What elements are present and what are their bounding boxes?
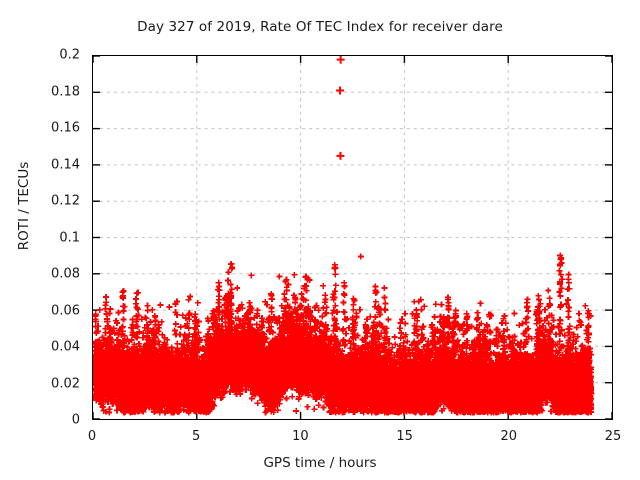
x-axis-title: GPS time / hours <box>0 455 640 471</box>
y-axis-title: ROTI / TECUs <box>16 116 32 296</box>
x-tick-label: 10 <box>275 429 325 444</box>
x-tick-label: 0 <box>67 429 117 444</box>
x-tick-label: 25 <box>588 429 638 444</box>
y-tick-label: 0.04 <box>14 340 80 355</box>
outlier-points <box>336 56 345 160</box>
y-tick-label: 0.2 <box>14 48 80 63</box>
x-tick-label: 15 <box>380 429 430 444</box>
plot-area <box>92 55 613 420</box>
chart-container: Day 327 of 2019, Rate Of TEC Index for r… <box>0 0 640 480</box>
chart-title: Day 327 of 2019, Rate Of TEC Index for r… <box>0 19 640 35</box>
scatter-points <box>93 252 594 415</box>
y-tick-label: 0.02 <box>14 376 80 391</box>
y-tick-label: 0 <box>14 413 80 428</box>
data-points-layer <box>93 56 612 419</box>
y-tick-label: 0.06 <box>14 303 80 318</box>
y-tick-label: 0.18 <box>14 84 80 99</box>
x-tick-label: 5 <box>171 429 221 444</box>
x-tick-label: 20 <box>484 429 534 444</box>
